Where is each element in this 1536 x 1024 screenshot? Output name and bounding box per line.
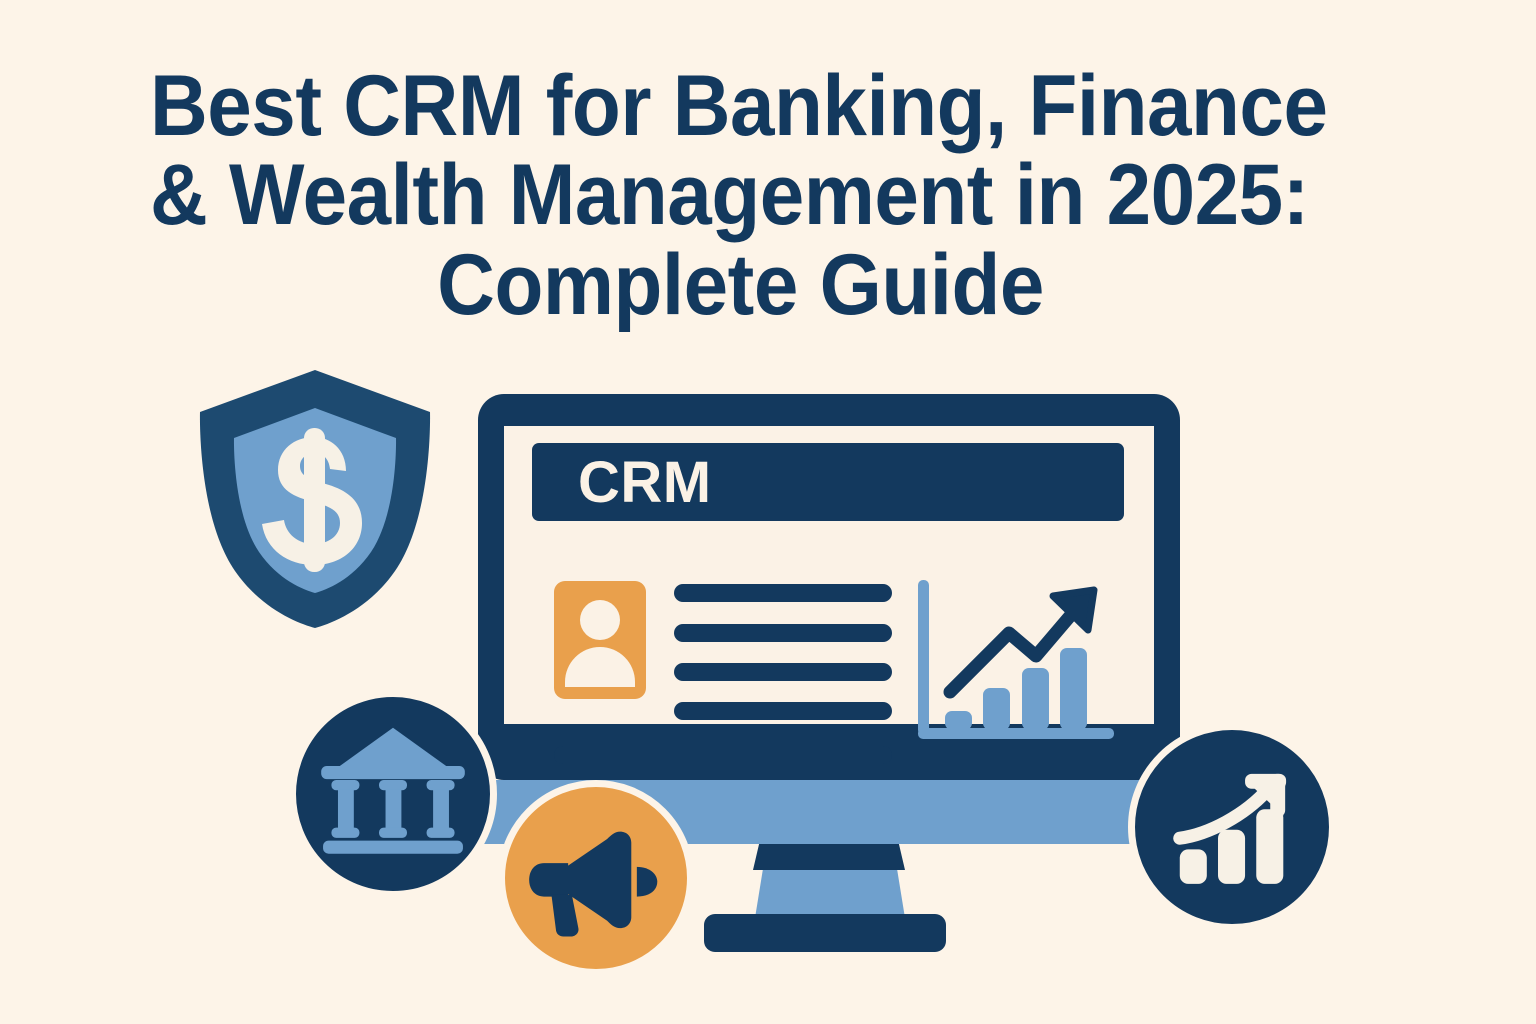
growth-badge[interactable] [1128, 723, 1336, 931]
monitor-base [704, 914, 946, 952]
bar-chart-with-trend-arrow-icon [914, 576, 1119, 751]
page-title: Best CRM for Banking, Finance & Wealth M… [150, 62, 1331, 330]
poster-canvas: Best CRM for Banking, Finance & Wealth M… [0, 0, 1536, 1024]
crm-header-label: CRM [578, 449, 712, 517]
record-line-2 [674, 624, 892, 642]
shield-dollar-icon [190, 366, 440, 632]
record-line-3 [674, 663, 892, 681]
avatar-head [580, 600, 620, 640]
crm-header-bar: CRM [532, 443, 1124, 521]
bank-building-icon [321, 728, 465, 854]
bank-badge[interactable] [289, 690, 497, 898]
monitor-neck-top [753, 844, 905, 870]
megaphone-badge[interactable] [498, 780, 694, 976]
record-line-4 [674, 702, 892, 720]
page-title-line-2: & Wealth Management in 2025: [150, 151, 1331, 240]
avatar-body [565, 647, 635, 687]
monitor: CRM [478, 394, 1180, 780]
growth-chart-arrow-icon [1180, 774, 1286, 884]
record-footer-line [554, 746, 892, 764]
crm-screen[interactable]: CRM [504, 426, 1154, 724]
page-title-line-1: Best CRM for Banking, Finance [150, 62, 1331, 151]
page-title-line-3: Complete Guide [150, 241, 1331, 330]
user-avatar-icon [554, 581, 646, 699]
megaphone-icon [529, 832, 657, 937]
record-line-1 [674, 584, 892, 602]
